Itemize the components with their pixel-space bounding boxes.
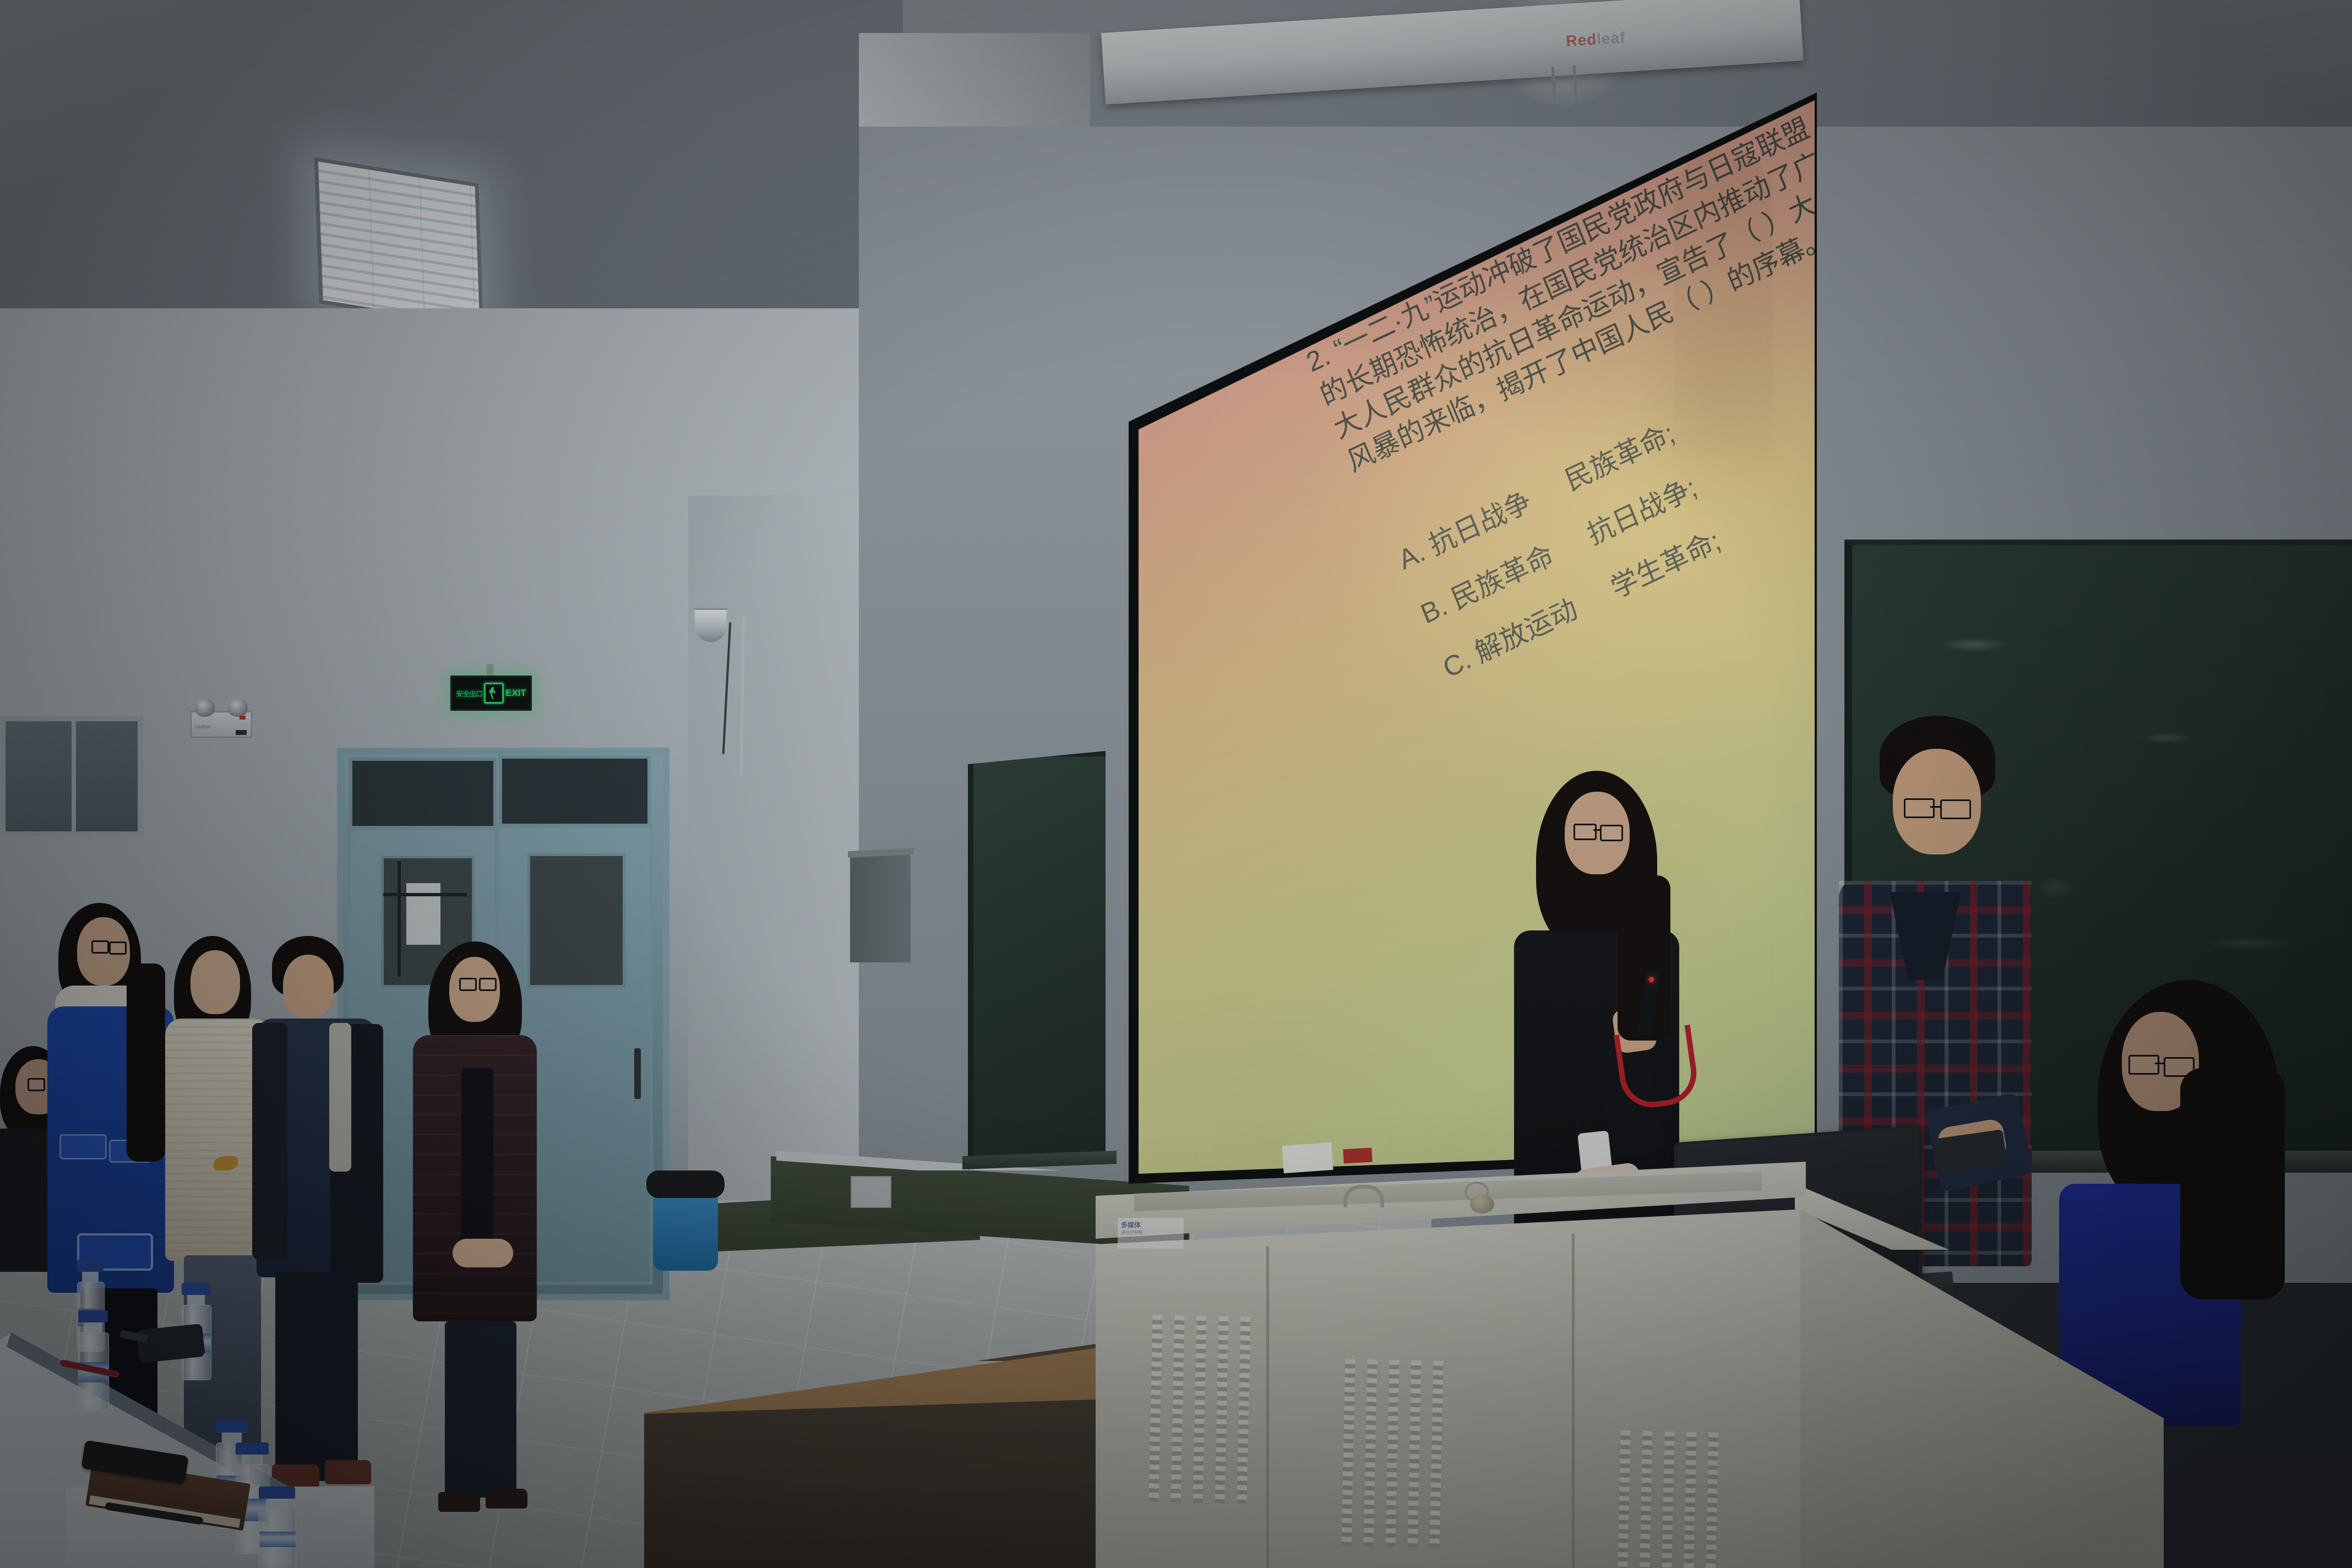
option-b-key: B.: [1417, 590, 1452, 630]
coat-pocket: [59, 1134, 107, 1159]
glasses-bridge: [1593, 829, 1601, 831]
clicker-led-indicator: [1648, 976, 1654, 982]
stage-front-face: [644, 1398, 1129, 1568]
console-door-seam: [1266, 1246, 1269, 1568]
exit-sign-english-label: EXIT: [505, 688, 526, 699]
console-brand-plate: 多媒体 讲台控制柜: [1118, 1218, 1184, 1249]
glasses-icon: [28, 1078, 45, 1091]
face: [283, 955, 334, 1019]
jeans: [445, 1321, 516, 1498]
door-transom-right: [499, 755, 651, 827]
bottle-cap: [77, 1260, 104, 1272]
glasses-right-icon: [109, 941, 127, 955]
trash-bag-liner: [646, 1170, 725, 1198]
hair-strand: [127, 963, 165, 1162]
sweater-motif: [214, 1156, 238, 1170]
fluorescent-panel-light-icon: [314, 157, 483, 329]
screen-pull-hook[interactable]: [1551, 66, 1578, 108]
console-brand-sub: 讲台控制柜: [1118, 1229, 1184, 1235]
bottle-neck: [84, 1322, 102, 1332]
bag-on-table: [136, 1324, 205, 1363]
glasses-right-icon: [1600, 825, 1623, 841]
glasses-bridge: [1930, 806, 1941, 808]
door-window-right: [527, 853, 625, 988]
bottle-neck: [266, 1499, 288, 1509]
console-brand-text: 多媒体: [1118, 1218, 1184, 1229]
hair-strand: [2180, 1068, 2285, 1299]
vest-left-panel: [252, 1023, 287, 1260]
face: [190, 950, 240, 1014]
glasses-left-icon: [2128, 1055, 2159, 1075]
shoe: [438, 1492, 480, 1512]
screen-brand-logo: Redleaf: [1565, 29, 1626, 50]
running-person-icon: [484, 683, 504, 704]
console-vent-grille: [1341, 1359, 1443, 1548]
vest-fur-lining: [329, 1023, 351, 1172]
door-notice-poster: [406, 883, 440, 945]
console-lock-icon[interactable]: [1470, 1195, 1494, 1213]
option-c-first: 解放运动: [1471, 593, 1582, 669]
glasses-right-icon: [479, 978, 497, 991]
side-window: [0, 716, 143, 837]
option-c-key: C.: [1439, 644, 1476, 684]
glasses-left-icon: [91, 940, 109, 954]
bottle-cap: [259, 1487, 295, 1499]
exit-sign-chinese-label: 安全出口: [456, 688, 482, 699]
bottle-neck: [82, 1272, 99, 1282]
screen-brand-suffix: leaf: [1596, 29, 1626, 47]
emergency-lamp-head-left-icon: [195, 698, 215, 717]
bottle-cap: [182, 1283, 210, 1295]
shoe: [486, 1489, 527, 1509]
water-bottle: [78, 1310, 108, 1409]
clasped-hands: [453, 1239, 513, 1267]
classroom-scene: 安全出口 EXIT 应急照明灯 Redleaf: [0, 0, 2352, 1568]
bottle-label: [259, 1532, 296, 1547]
console-vent-grille: [1148, 1315, 1250, 1504]
boot: [325, 1460, 371, 1484]
glasses-left-icon: [459, 978, 477, 991]
console-door-seam: [1572, 1233, 1575, 1568]
console-vent-grille: [1616, 1430, 1718, 1568]
wall-electrical-box: [850, 852, 911, 962]
bottle-cap: [216, 1420, 248, 1433]
glasses-bridge: [2155, 1063, 2165, 1064]
bottle-cap: [236, 1442, 269, 1455]
door-transom-left: [349, 758, 497, 829]
glasses-left-icon: [1574, 824, 1597, 840]
trash-bin: [653, 1183, 718, 1271]
glasses-left-icon: [1904, 798, 1935, 818]
wall-outlet-plate: [851, 1176, 891, 1208]
inner-jacket: [461, 1068, 493, 1250]
option-a-key: A.: [1394, 536, 1429, 575]
water-bottle: [259, 1487, 295, 1568]
bottle-neck: [242, 1455, 262, 1464]
bottle-neck: [187, 1295, 205, 1305]
paper-slip: [1282, 1142, 1333, 1173]
bottle-cap: [78, 1310, 108, 1322]
dome-camera-icon: [695, 610, 727, 642]
exit-sign: 安全出口 EXIT: [450, 676, 532, 711]
glasses-right-icon: [1940, 799, 1971, 819]
bottle-body: [259, 1509, 296, 1568]
emergency-battery-label: [236, 730, 247, 735]
bottle-neck: [222, 1433, 242, 1442]
emergency-lamp-head-right-icon: [228, 698, 248, 717]
red-marker-box: [1343, 1148, 1372, 1164]
emergency-light-fixture: 应急照明灯: [190, 711, 252, 738]
door-handle[interactable]: [634, 1048, 641, 1099]
emergency-light-label: 应急照明灯: [194, 725, 211, 729]
console-cable-hook[interactable]: [1343, 1185, 1384, 1207]
window-bar-vertical: [398, 861, 401, 977]
window-bar-horizontal: [383, 893, 467, 896]
trousers: [275, 1272, 358, 1481]
chalkboard-left: [968, 751, 1117, 1180]
emergency-indicator-led: [239, 716, 246, 720]
